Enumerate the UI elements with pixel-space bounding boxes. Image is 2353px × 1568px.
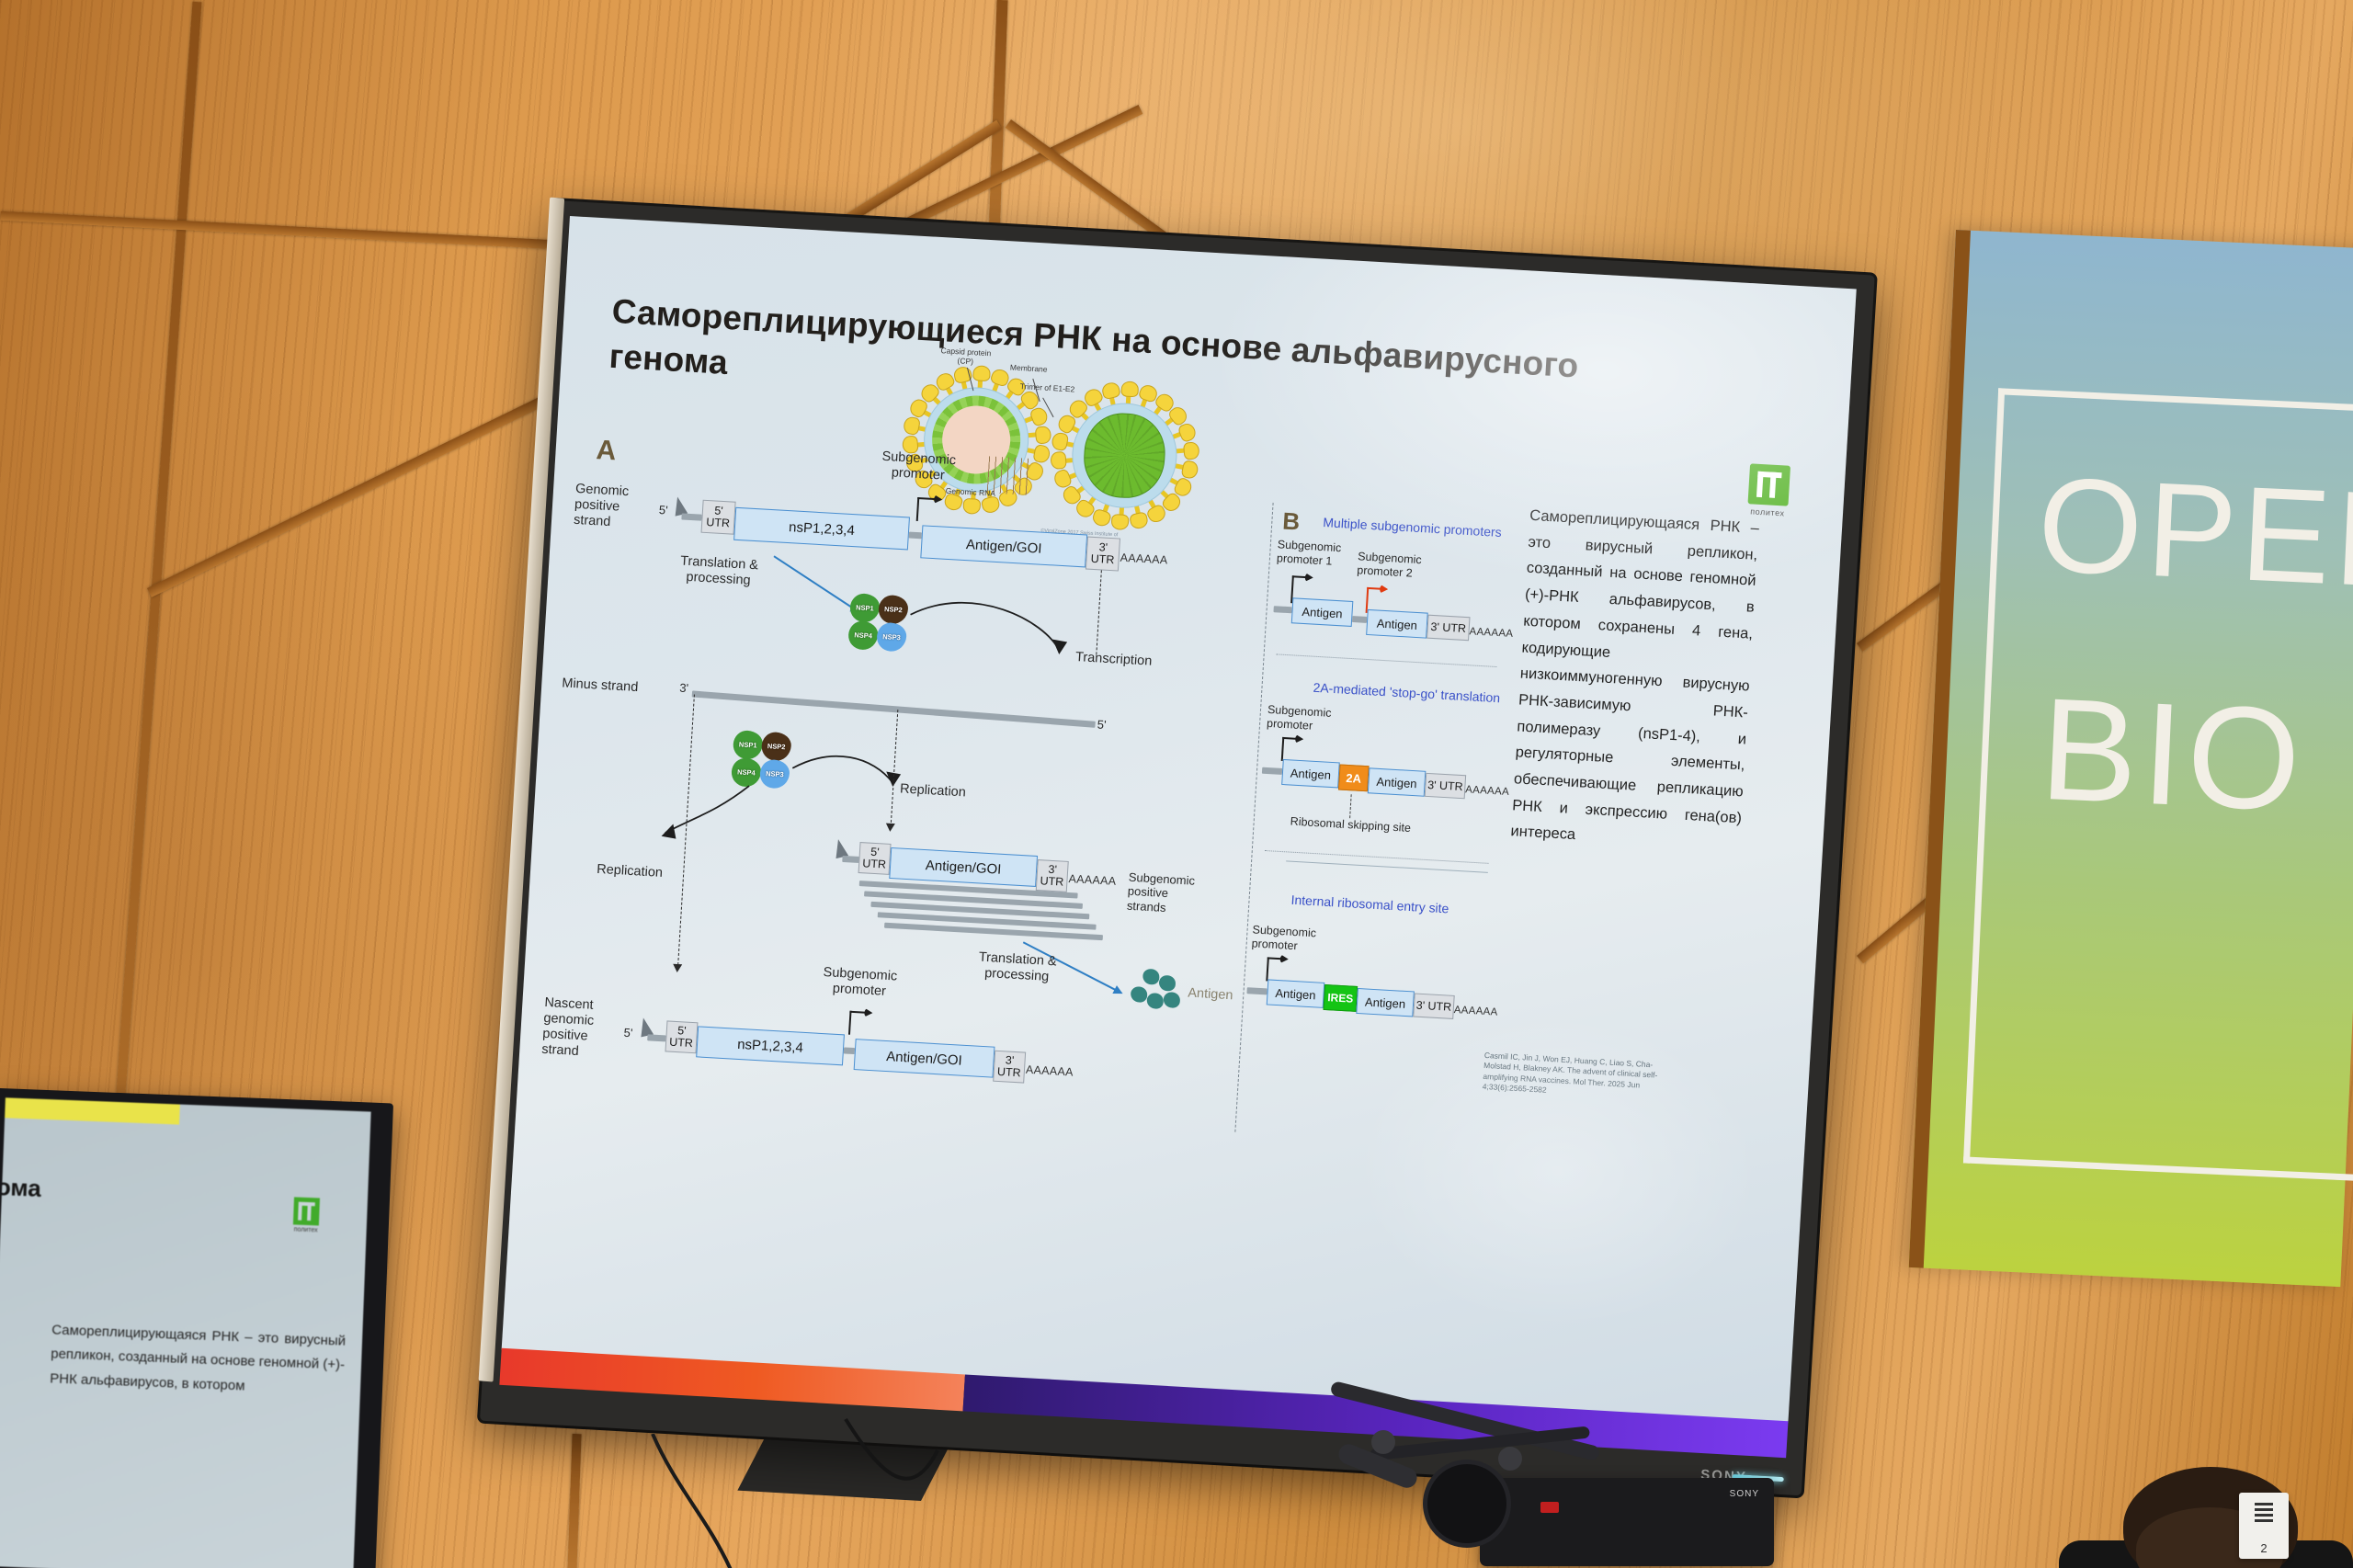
- subgenomic-promoter-arrow-row1: [916, 497, 946, 523]
- alphavirus-illustration: Capsid protein (CP) Membrane Trimer of E…: [903, 344, 1225, 545]
- panel-b-s1-backbone-left: [1273, 606, 1291, 613]
- antigen-label: Antigen: [1188, 986, 1233, 1005]
- transcription-curve-arrow: [903, 582, 1129, 695]
- panel-b-s3-polya: AAAAAA: [1453, 1005, 1497, 1018]
- nsp2-protein: NSP2: [878, 595, 909, 625]
- panel-b-s3-promoter-label: Subgenomic promoter: [1251, 923, 1330, 954]
- open-bio-banner: OPEN BIO: [1909, 230, 2353, 1287]
- panel-b-s3-antigen-2: Antigen: [1356, 988, 1415, 1017]
- panel-b-s3-backbone: [1246, 987, 1267, 994]
- panel-b-s1-backbone-mid: [1352, 616, 1367, 623]
- subgenomic-promoter-label-row3: Subgenomic promoter: [799, 964, 920, 1003]
- translation-processing-label-row2: Translation & processing: [957, 949, 1078, 987]
- antigen-blob-5: [1163, 992, 1180, 1008]
- panel-b-promoter2-label: Subgenomic promoter 2: [1357, 550, 1436, 581]
- five-prime-label-row1: 5': [658, 503, 668, 517]
- panel-a-letter: A: [596, 435, 618, 467]
- backbone-row1-mid: [909, 532, 922, 540]
- camera-brand-label: SONY: [1730, 1489, 1759, 1499]
- panel-b-s2-antigen-2: Antigen: [1368, 767, 1427, 796]
- monitor-title-fragment: нома: [0, 1172, 41, 1202]
- nsp-gene-box-row3: nsP1,2,3,4: [696, 1026, 845, 1065]
- antigen-protein-cluster: [1130, 968, 1188, 1022]
- nascent-strand-label: Nascent genomic positive strand: [541, 995, 624, 1062]
- polya-tail-row1: AAAAAA: [1120, 551, 1168, 567]
- subgenomic-promoter-arrow-row3: [848, 1011, 876, 1037]
- conference-room-photo: OPEN BIO Самореплицирующиеся РНК на осно…: [0, 0, 2353, 1568]
- camera-record-indicator: [1540, 1502, 1559, 1513]
- panel-b-letter: B: [1282, 507, 1302, 537]
- presentation-tv: Самореплицирующиеся РНК на основе альфав…: [480, 200, 1875, 1495]
- five-prime-minus: 5': [1097, 717, 1107, 732]
- nsp1-protein: NSP1: [849, 593, 881, 623]
- ribosomal-skip-pointer: [1349, 794, 1352, 818]
- replication-label-2: Replication: [597, 862, 664, 881]
- confidence-monitor: нома политех Самореплицирующаяся РНК – э…: [0, 1088, 393, 1568]
- tv-power-cable: [643, 1434, 1011, 1568]
- antigen-blob-3: [1131, 986, 1148, 1003]
- s2-promoter-head: [1295, 734, 1304, 744]
- panel-b-section2-heading: 2A-mediated 'stop-go' translation: [1313, 680, 1500, 706]
- s2-promoter-stem: [1281, 737, 1284, 761]
- promoter-stem-3: [848, 1011, 851, 1035]
- panel-b-s2-antigen-1: Antigen: [1281, 759, 1340, 788]
- nsp1-protein-2: NSP1: [733, 730, 764, 760]
- polya-tail-row2: AAAAAA: [1068, 872, 1117, 888]
- utr5-box-row3: 5' UTR: [665, 1020, 698, 1053]
- panel-b-section1-heading: Multiple subgenomic promoters: [1323, 515, 1502, 540]
- antigen-gene-box-row2: Antigen/GOI: [889, 847, 1038, 887]
- replication-curve-arrow-right: [789, 737, 939, 810]
- utr3-box-row1: 3' UTR: [1086, 537, 1120, 572]
- nsp2-protein-2: NSP2: [761, 732, 792, 762]
- replication-arrowhead-mid: [885, 824, 895, 833]
- panel-b-divider-2-line: [1286, 860, 1488, 872]
- backbone-row1-left: [681, 513, 701, 520]
- minus-strand-label: Minus strand: [562, 676, 639, 696]
- promoter-stem: [916, 497, 919, 521]
- nsp-replicase-complex-1: NSP1 NSP2 NSP4 NSP3: [847, 593, 912, 653]
- panel-b-s1-antigen-1: Antigen: [1291, 597, 1354, 627]
- virus-label-capsid-protein: Capsid protein (CP): [933, 346, 998, 368]
- replication-curve-arrow-left: [649, 766, 774, 873]
- backbone-row3-left: [647, 1034, 665, 1041]
- panel-b-s2-backbone: [1262, 767, 1282, 775]
- promoter1-head: [1305, 573, 1314, 582]
- panel-b-s3-antigen-1: Antigen: [1267, 979, 1325, 1007]
- nsp4-protein: NSP4: [847, 620, 879, 651]
- panel-b-divider-1: [1277, 653, 1497, 667]
- panel-b-section3-heading: Internal ribosomal entry site: [1290, 892, 1449, 916]
- panel-b-s1-utr3: 3' UTR: [1427, 615, 1470, 642]
- promoter-arrow-head-3: [864, 1008, 873, 1017]
- camera-body: SONY: [1480, 1478, 1774, 1566]
- banner-word-open: OPEN: [2035, 447, 2353, 619]
- camera-adjust-knob-2: [1498, 1447, 1522, 1471]
- monitor-politeh-logo: политех: [293, 1197, 320, 1233]
- s3-promoter-head: [1279, 954, 1289, 963]
- confidence-monitor-screen: нома политех Самореплицирующаяся РНК – э…: [0, 1097, 371, 1568]
- antigen-blob-1: [1142, 969, 1160, 985]
- translation-processing-label-row1: Translation & processing: [658, 552, 779, 591]
- panel-b-s3-utr3: 3' UTR: [1413, 993, 1454, 1018]
- monitor-logo-caption: политех: [293, 1226, 319, 1233]
- minus-strand-backbone: [692, 690, 1096, 727]
- panel-b-s2-polya: AAAAAA: [1465, 784, 1509, 798]
- camera-adjust-knob-1: [1371, 1430, 1395, 1454]
- panel-b-promoter1-label: Subgenomic promoter 1: [1277, 538, 1356, 569]
- subgenomic-positive-strands-label: Subgenomic positive strands: [1127, 870, 1212, 917]
- utr5-box-row1: 5' UTR: [701, 500, 736, 535]
- polya-tail-row3: AAAAAA: [1026, 1063, 1074, 1079]
- antigen-gene-box-row3: Antigen/GOI: [854, 1039, 995, 1078]
- genomic-positive-strand-label: Genomic positive strand: [574, 482, 657, 533]
- attendee-badge: 2: [2239, 1493, 2289, 1559]
- slide-body-text: Самореплицирующаяся РНК – это вирусный р…: [1510, 503, 1760, 858]
- utr3-box-row2: 3' UTR: [1036, 859, 1069, 892]
- nsp-gene-box-row1: nsP1,2,3,4: [733, 507, 910, 551]
- tv-screen: Самореплицирующиеся РНК на основе альфав…: [502, 216, 1857, 1423]
- politeh-logo-icon: [1747, 463, 1790, 506]
- monitor-logo-icon: [293, 1197, 320, 1225]
- ribosomal-skipping-site-label: Ribosomal skipping site: [1290, 815, 1411, 835]
- panel-b-s2-2a-element: 2A: [1338, 764, 1370, 791]
- politeh-logo: политех: [1740, 463, 1798, 518]
- translation-arrow-row1: [774, 555, 859, 612]
- banner-word-bio: BIO: [2037, 666, 2308, 845]
- panel-divider: [1234, 503, 1273, 1132]
- antigen-blob-2: [1158, 975, 1176, 992]
- antigen-blob-4: [1146, 993, 1164, 1009]
- utr3-box-row3: 3' UTR: [993, 1051, 1026, 1084]
- virion-whole: [1052, 384, 1197, 528]
- backbone-row3-mid: [844, 1047, 855, 1054]
- nsp3-protein: NSP3: [876, 622, 907, 653]
- panel-b-s1-antigen-2: Antigen: [1366, 609, 1428, 639]
- virus-label-membrane: Membrane: [1010, 362, 1048, 373]
- monitor-body-text: Самореплицирующаяся РНК – это вирусный р…: [50, 1318, 347, 1402]
- panel-b-s2-utr3: 3' UTR: [1425, 773, 1466, 799]
- panel-b-s1-polya: AAAAAA: [1469, 626, 1513, 640]
- s3-promoter-stem: [1266, 957, 1268, 981]
- subgenomic-promoter-label-row1: Subgenomic promoter: [858, 448, 979, 486]
- badge-number: 2: [2239, 1541, 2289, 1555]
- camera-lens: [1423, 1460, 1511, 1548]
- slide-citation: Casmil IC, Jin J, Won EJ, Huang C, Liao …: [1482, 1051, 1658, 1103]
- replication-arrowhead-left: [673, 964, 683, 973]
- panel-b-s3-ires-element: IRES: [1324, 984, 1358, 1012]
- utr5-box-row2: 5' UTR: [858, 842, 892, 875]
- five-prime-row3: 5': [623, 1026, 633, 1040]
- badge-barcode: [2255, 1500, 2273, 1522]
- promoter-arrow-head: [934, 494, 943, 504]
- slide-content: Самореплицирующиеся РНК на основе альфав…: [502, 216, 1857, 1423]
- video-camera-rig: SONY: [1314, 1406, 1829, 1568]
- promoter2-head: [1380, 585, 1389, 594]
- three-prime-minus: 3': [679, 681, 689, 696]
- panel-b-s2-promoter-label: Subgenomic promoter: [1267, 703, 1346, 734]
